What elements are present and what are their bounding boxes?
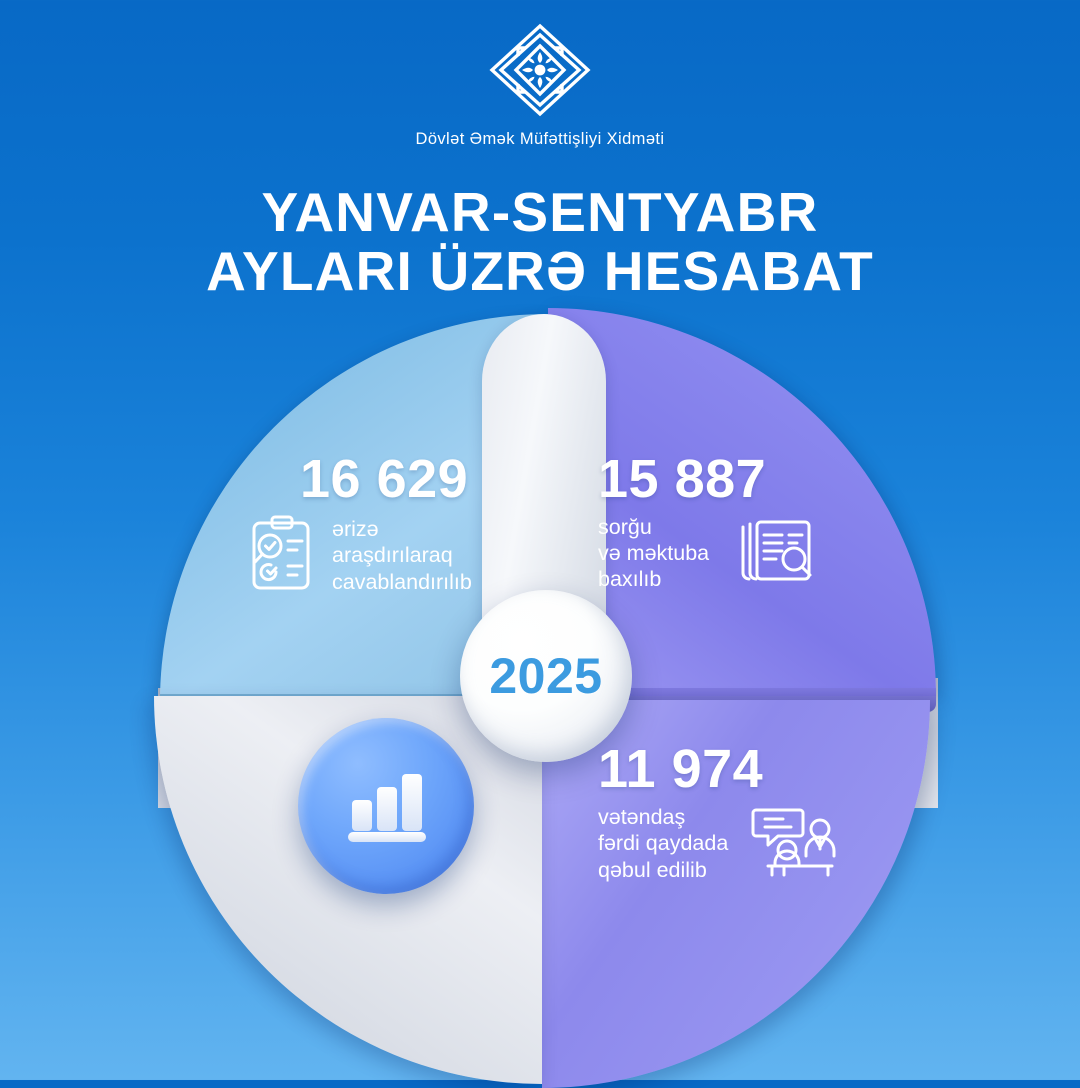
stat-label: sorğu və məktuba baxılıb: [598, 514, 709, 593]
stat-label-line-3: cavablandırılıb: [332, 570, 472, 594]
clipboard-magnifier-icon: [248, 514, 322, 597]
newspaper-magnifier-icon: [731, 515, 817, 592]
stat-label-line-1: ərizə: [332, 517, 379, 541]
stat-label-line-3: baxılıb: [598, 567, 661, 591]
diamond-rosette-logo-icon: [488, 22, 592, 118]
stat-label: vətəndaş fərdi qaydada qəbul edilib: [598, 804, 728, 883]
title-line-2: AYLARI ÜZRƏ HESABAT: [0, 242, 1080, 301]
stat-label-line-2: araşdırılaraq: [332, 543, 453, 567]
stat-label-line-1: sorğu: [598, 515, 652, 539]
stat-label: ərizə araşdırılaraq cavablandırılıb: [332, 516, 472, 595]
page-title: YANVAR-SENTYABR AYLARI ÜZRƏ HESABAT: [0, 183, 1080, 301]
stat-number: 16 629: [300, 452, 548, 506]
reception-desk-icon: [748, 804, 840, 883]
center-year-label: 2025: [489, 647, 602, 705]
stat-number: 15 887: [598, 452, 918, 506]
organization-name: Dövlət Əmək Müfəttişliyi Xidməti: [0, 130, 1080, 149]
stat-label-line-3: qəbul edilib: [598, 858, 707, 882]
stat-block-inquiries: 15 887 sorğu və məktuba baxılıb: [598, 452, 918, 593]
title-line-1: YANVAR-SENTYABR: [0, 183, 1080, 242]
center-sphere: 2025: [460, 590, 632, 762]
stat-label-line-1: vətəndaş: [598, 805, 685, 829]
stat-block-receptions: 11 974 vətəndaş fərdi qaydada qəbul edil…: [598, 742, 918, 883]
stat-label-line-2: və məktuba: [598, 541, 709, 565]
stat-number: 11 974: [598, 742, 918, 796]
stat-label-line-2: fərdi qaydada: [598, 831, 728, 855]
bar-chart-badge: [298, 718, 474, 894]
stat-block-applications: 16 629 ərizə araşdırılaraq cavablandırıl…: [248, 452, 548, 597]
pinwheel-chart: 2025: [152, 300, 928, 1076]
bar-chart-icon: [340, 764, 432, 848]
logo-wrap: [0, 0, 1080, 123]
header: Dövlət Əmək Müfəttişliyi Xidməti YANVAR-…: [0, 0, 1080, 301]
